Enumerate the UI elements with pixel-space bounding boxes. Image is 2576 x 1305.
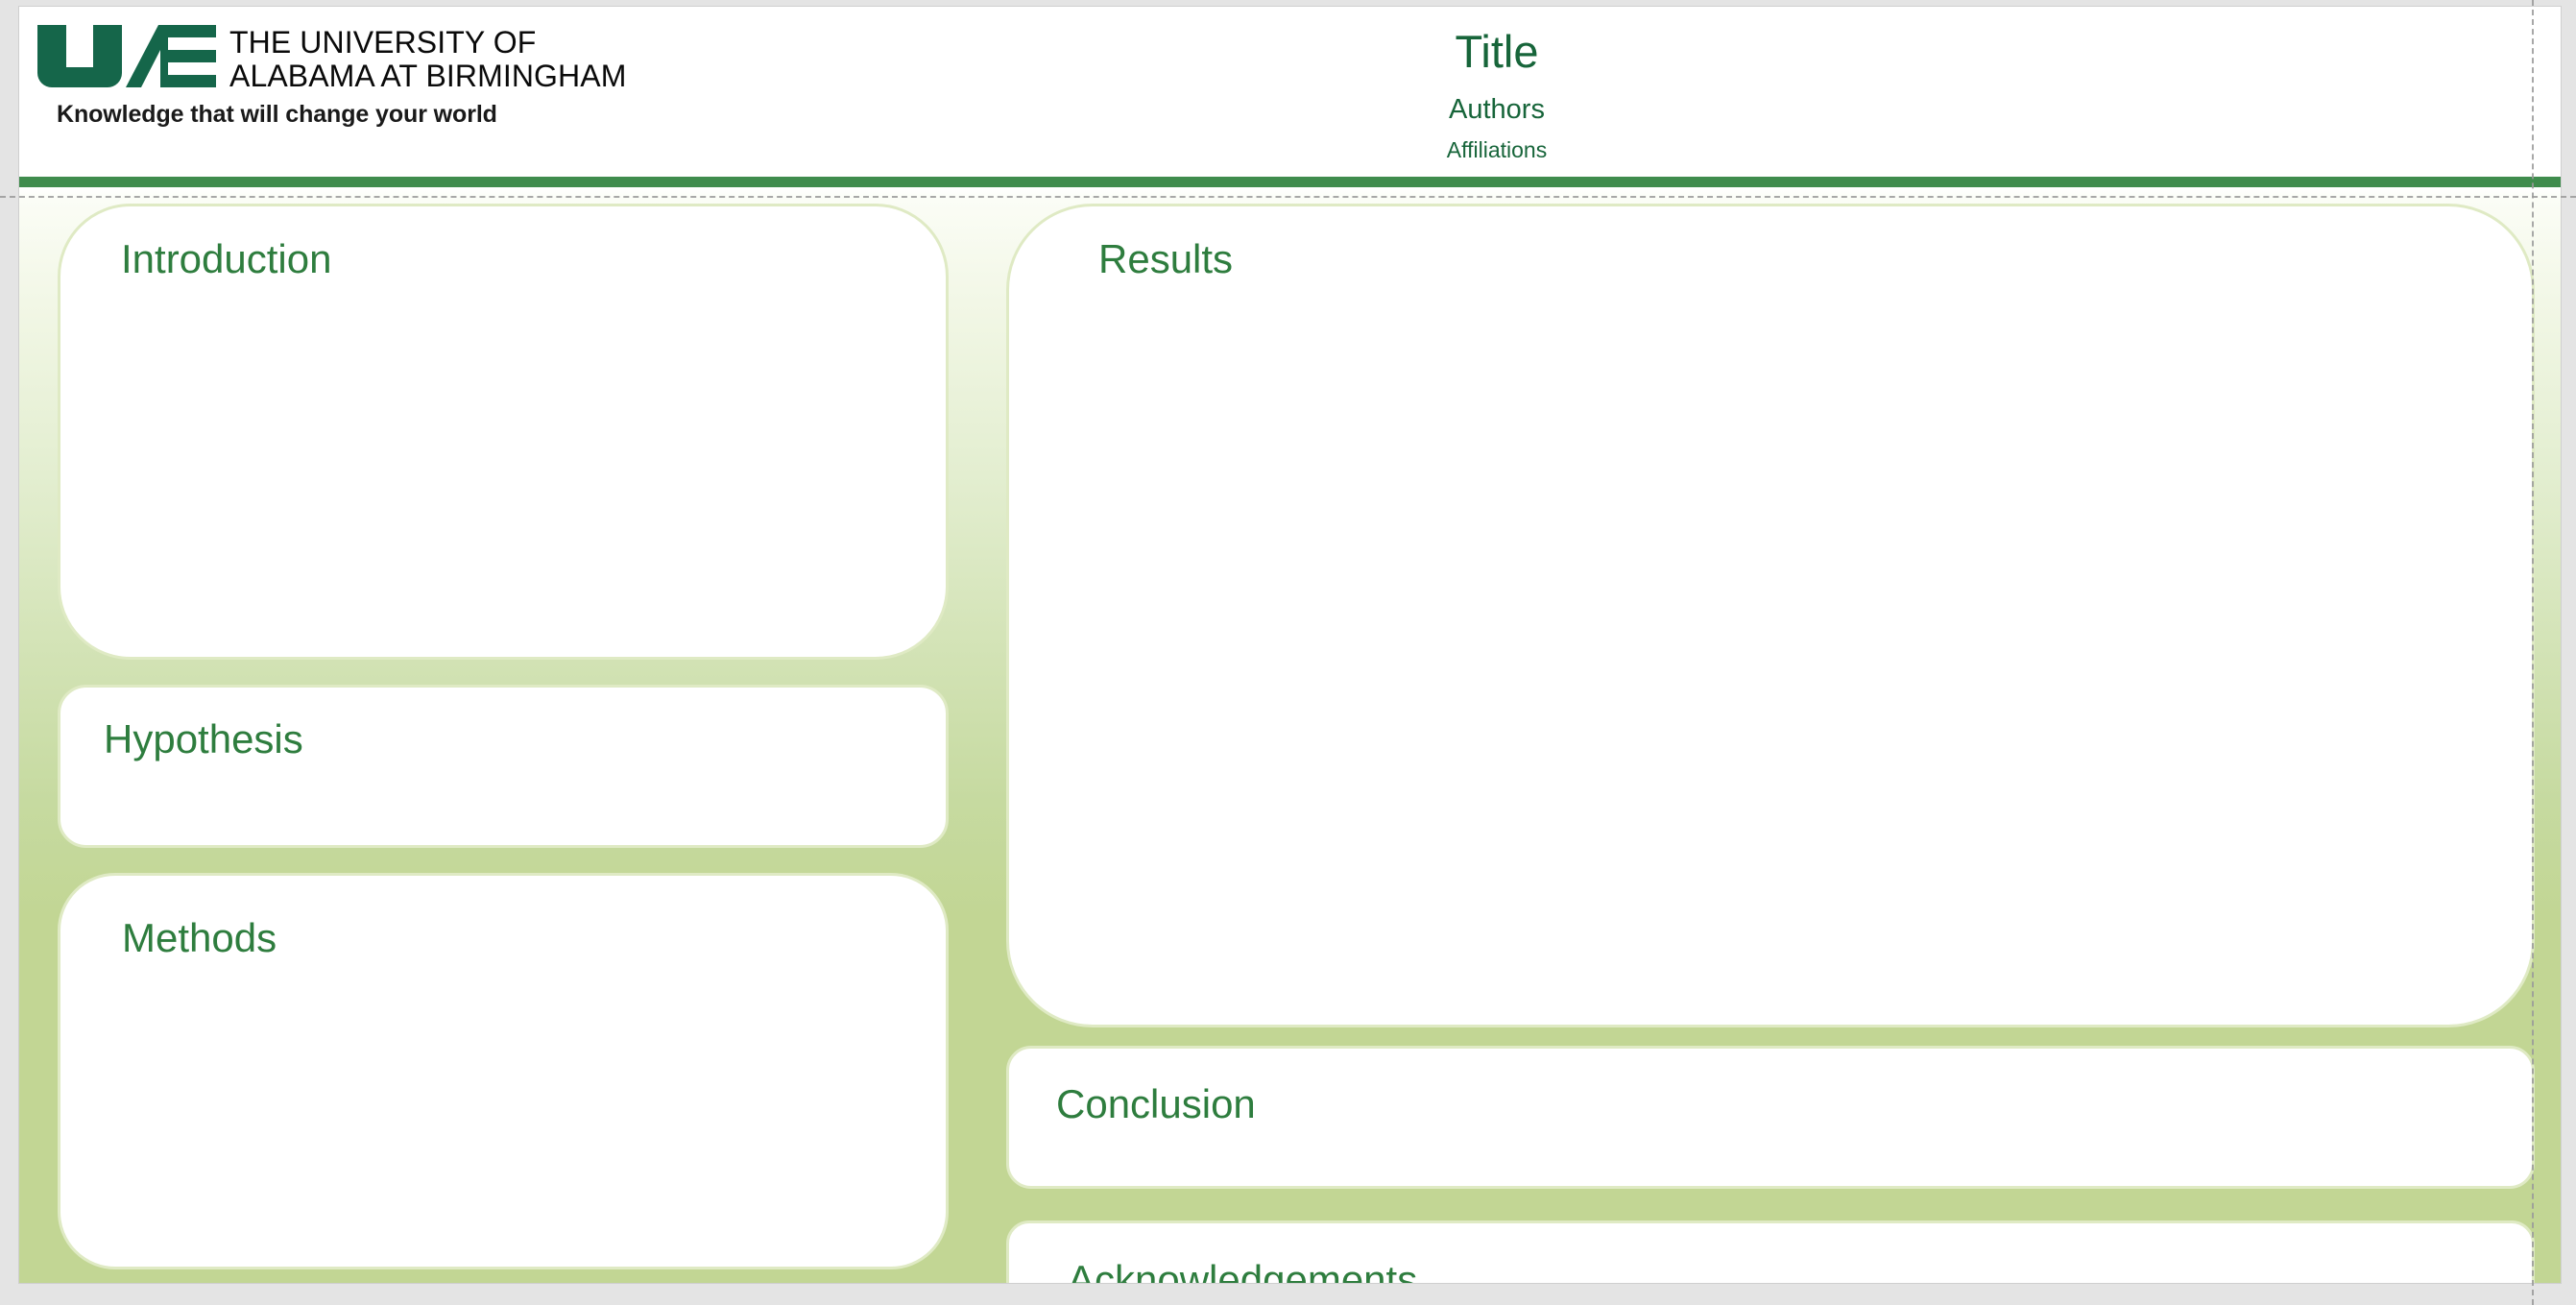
poster-affiliations[interactable]: Affiliations	[1343, 137, 1650, 162]
university-tagline: Knowledge that will change your world	[57, 101, 497, 129]
poster-workspace: THE UNIVERSITY OF ALABAMA AT BIRMINGHAM …	[0, 0, 2576, 1305]
panel-hypothesis[interactable]: Hypothesis	[58, 685, 949, 848]
panel-results[interactable]: Results	[1006, 204, 2535, 1027]
panel-results-title: Results	[1098, 239, 1233, 279]
poster-authors[interactable]: Authors	[1343, 94, 1650, 126]
header-divider-rule	[18, 177, 2562, 187]
panel-conclusion[interactable]: Conclusion	[1006, 1046, 2535, 1189]
panel-methods[interactable]: Methods	[58, 873, 949, 1269]
poster-panel-grid: Introduction Hypothesis Methods Results …	[18, 187, 2562, 1284]
panel-acknowledgements-title: Acknowledgements	[1068, 1260, 1417, 1284]
panel-conclusion-title: Conclusion	[1056, 1084, 1256, 1124]
panel-introduction[interactable]: Introduction	[58, 204, 949, 660]
panel-hypothesis-title: Hypothesis	[104, 719, 303, 760]
wordmark-line-1: THE UNIVERSITY OF	[229, 26, 626, 60]
poster-body: Introduction Hypothesis Methods Results …	[18, 187, 2562, 1284]
panel-methods-title: Methods	[122, 918, 277, 958]
panel-introduction-title: Introduction	[121, 239, 331, 279]
poster-page[interactable]: THE UNIVERSITY OF ALABAMA AT BIRMINGHAM …	[18, 6, 2562, 1284]
uab-logo-mark	[37, 25, 216, 87]
poster-title-block: Title Authors Affiliations	[1343, 27, 1650, 162]
wordmark-line-2: ALABAMA AT BIRMINGHAM	[229, 60, 626, 93]
uab-wordmark: THE UNIVERSITY OF ALABAMA AT BIRMINGHAM	[229, 25, 626, 92]
panel-acknowledgements[interactable]: Acknowledgements	[1006, 1220, 2535, 1284]
uab-logo-lockup: THE UNIVERSITY OF ALABAMA AT BIRMINGHAM	[37, 25, 626, 92]
poster-title[interactable]: Title	[1343, 27, 1650, 78]
poster-header: THE UNIVERSITY OF ALABAMA AT BIRMINGHAM …	[18, 6, 2562, 177]
